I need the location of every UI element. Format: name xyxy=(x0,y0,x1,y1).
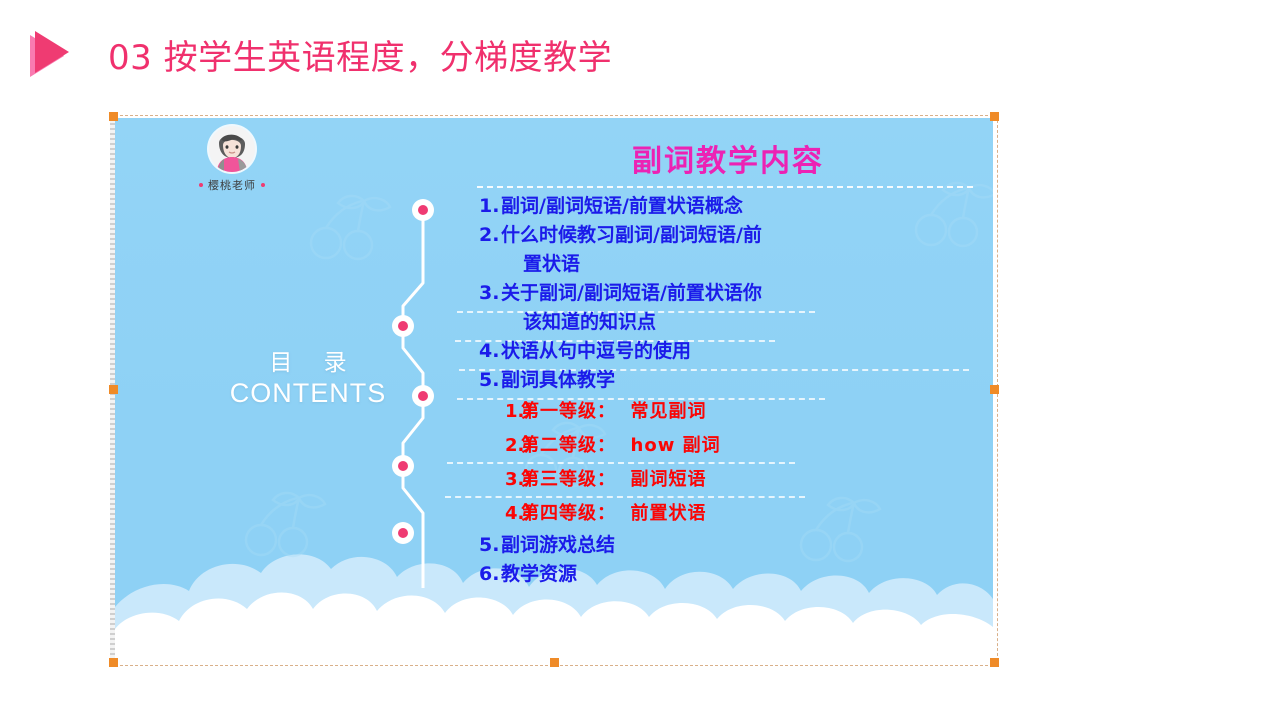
toc-sub-item[interactable]: 1.） 第一等级： 常见副词 xyxy=(465,395,985,429)
toc-item-number: 6. xyxy=(465,560,501,589)
toc-item-text: 教学资源 xyxy=(501,560,985,589)
slide-object[interactable]: 樱桃老师 目 录 CONTENTS xyxy=(110,115,998,666)
toc-item-text: 副词游戏总结 xyxy=(501,531,985,560)
toc-sub-item[interactable]: 4.） 第四等级： 前置状语 xyxy=(465,497,985,531)
cherry-watermark-icon xyxy=(300,191,392,263)
toc-title: 副词教学内容 xyxy=(465,136,985,180)
toc-item-number: 5. xyxy=(465,531,501,560)
toc-item-text: 副词/副词短语/前置状语概念 xyxy=(501,192,985,221)
bullet-dot-icon xyxy=(199,183,203,187)
screenshot-root: 03 按学生英语程度，分梯度教学 xyxy=(0,0,1280,720)
page-title: 03 按学生英语程度，分梯度教学 xyxy=(108,30,612,79)
title-divider xyxy=(477,186,973,188)
toc-item[interactable]: 4. 状语从句中逗号的使用 xyxy=(465,337,985,366)
toc-sub-item[interactable]: 3.） 第三等级： 副词短语 xyxy=(465,463,985,497)
toc-item-number: 5. xyxy=(465,366,501,395)
toc-item-text: 状语从句中逗号的使用 xyxy=(501,337,985,366)
toc-sub-item[interactable]: 2.） 第二等级： how 副词 xyxy=(465,429,985,463)
resize-handle-bottom-middle[interactable] xyxy=(550,658,559,667)
resize-handle-bottom-left[interactable] xyxy=(109,658,118,667)
toc-item[interactable]: 5. 副词具体教学 xyxy=(465,366,985,395)
toc-sub-number: 3.） xyxy=(465,463,521,497)
toc-sub-text: 第三等级： 副词短语 xyxy=(521,463,985,497)
resize-handle-bottom-right[interactable] xyxy=(990,658,999,667)
toc-sub-text: 第一等级： 常见副词 xyxy=(521,395,985,429)
page-heading: 03 按学生英语程度，分梯度教学 xyxy=(0,22,1000,86)
toc-item-number: 1. xyxy=(465,192,501,221)
toc-item-text: 关于副词/副词短语/前置状语你 该知道的知识点 xyxy=(501,279,985,337)
toc-sub-text: 第四等级： 前置状语 xyxy=(521,497,985,531)
teacher-avatar-icon xyxy=(209,126,255,172)
toc-list: 1. 副词/副词短语/前置状语概念 2. 什么时候教习副词/副词短语/前 置状语… xyxy=(465,192,985,589)
toc-item[interactable]: 3. 关于副词/副词短语/前置状语你 该知道的知识点 xyxy=(465,279,985,337)
resize-handle-right-middle[interactable] xyxy=(990,385,999,394)
toc-item-number: 4. xyxy=(465,337,501,366)
play-triangle-icon xyxy=(30,31,82,77)
teacher-name: 樱桃老师 xyxy=(167,177,297,193)
toc-item-number: 2. xyxy=(465,221,501,250)
resize-handle-top-left[interactable] xyxy=(109,112,118,121)
toc-item-number: 3. xyxy=(465,279,501,308)
resize-handle-left-middle[interactable] xyxy=(109,385,118,394)
timeline-decoration xyxy=(383,188,443,608)
resize-handle-top-right[interactable] xyxy=(990,112,999,121)
slide-canvas[interactable]: 樱桃老师 目 录 CONTENTS xyxy=(115,118,993,661)
toc-item-text: 什么时候教习副词/副词短语/前 置状语 xyxy=(501,221,985,279)
toc-sub-text: 第二等级： how 副词 xyxy=(521,429,985,463)
toc-item[interactable]: 2. 什么时候教习副词/副词短语/前 置状语 xyxy=(465,221,985,279)
toc-sub-number: 2.） xyxy=(465,429,521,463)
teacher-credit: 樱桃老师 xyxy=(167,126,297,193)
bullet-dot-icon xyxy=(261,183,265,187)
toc-item[interactable]: 5. 副词游戏总结 xyxy=(465,531,985,560)
toc-sub-number: 1.） xyxy=(465,395,521,429)
toc-content: 副词教学内容 1. 副词/副词短语/前置状语概念 xyxy=(465,136,985,656)
toc-sub-number: 4.） xyxy=(465,497,521,531)
toc-item[interactable]: 1. 副词/副词短语/前置状语概念 xyxy=(465,192,985,221)
toc-item[interactable]: 6. 教学资源 xyxy=(465,560,985,589)
toc-item-text: 副词具体教学 xyxy=(501,366,985,395)
